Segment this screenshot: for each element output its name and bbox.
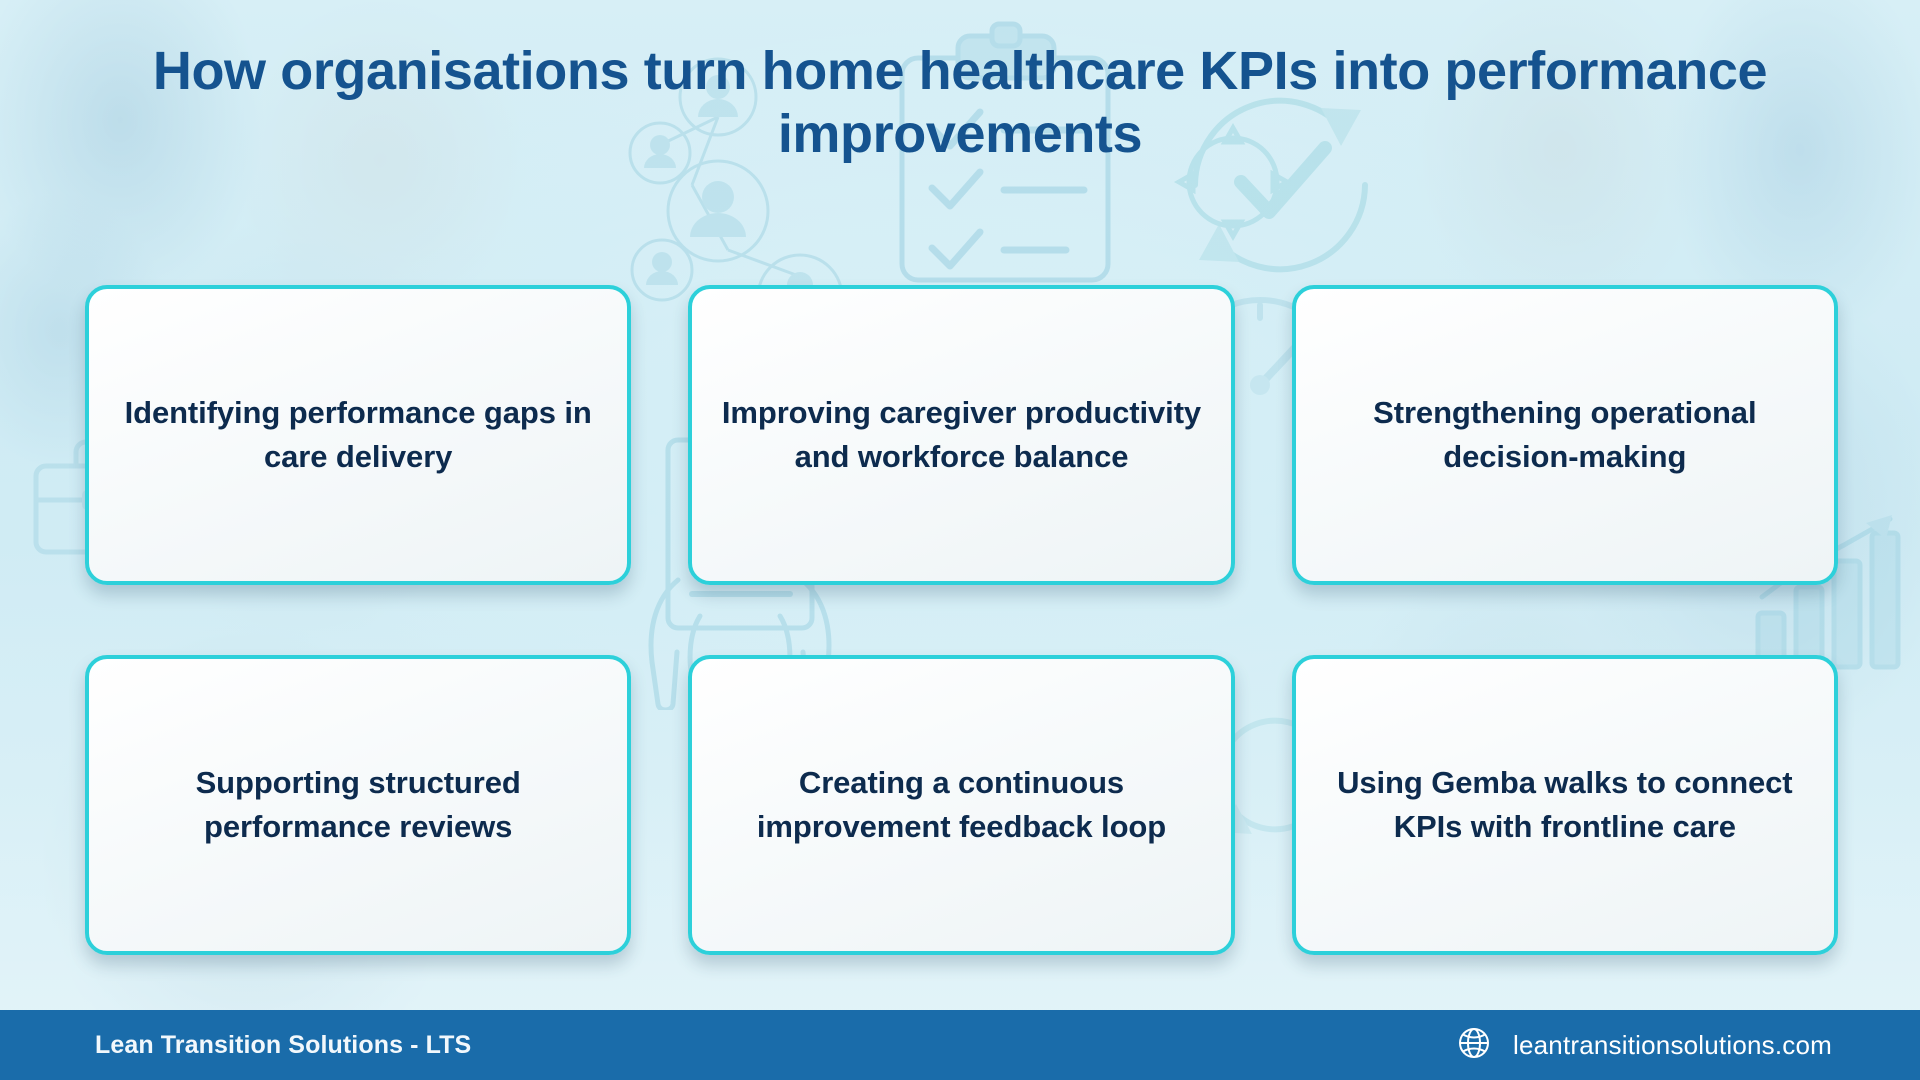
kpi-card-1-label: Identifying performance gaps in care del…: [115, 391, 601, 479]
kpi-card-6-label: Using Gemba walks to connect KPIs with f…: [1322, 761, 1808, 849]
kpi-card-3[interactable]: Strengthening operational decision-makin…: [1292, 285, 1838, 585]
footer-bar: Lean Transition Solutions - LTS leantran…: [0, 1010, 1920, 1080]
footer-brand-label: Lean Transition Solutions - LTS: [95, 1031, 471, 1060]
footer-website[interactable]: leantransitionsolutions.com: [1457, 1026, 1832, 1065]
kpi-card-2[interactable]: Improving caregiver productivity and wor…: [688, 285, 1234, 585]
kpi-card-4-label: Supporting structured performance review…: [115, 761, 601, 849]
footer-url-label: leantransitionsolutions.com: [1513, 1030, 1832, 1061]
kpi-card-grid: Identifying performance gaps in care del…: [85, 285, 1838, 955]
kpi-card-1[interactable]: Identifying performance gaps in care del…: [85, 285, 631, 585]
page-title: How organisations turn home healthcare K…: [0, 40, 1920, 165]
kpi-card-3-label: Strengthening operational decision-makin…: [1322, 391, 1808, 479]
kpi-card-5-label: Creating a continuous improvement feedba…: [718, 761, 1204, 849]
infographic-canvas: How organisations turn home healthcare K…: [0, 0, 1920, 1080]
globe-icon: [1457, 1026, 1491, 1065]
kpi-card-4[interactable]: Supporting structured performance review…: [85, 655, 631, 955]
kpi-card-6[interactable]: Using Gemba walks to connect KPIs with f…: [1292, 655, 1838, 955]
kpi-card-5[interactable]: Creating a continuous improvement feedba…: [688, 655, 1234, 955]
kpi-card-2-label: Improving caregiver productivity and wor…: [718, 391, 1204, 479]
